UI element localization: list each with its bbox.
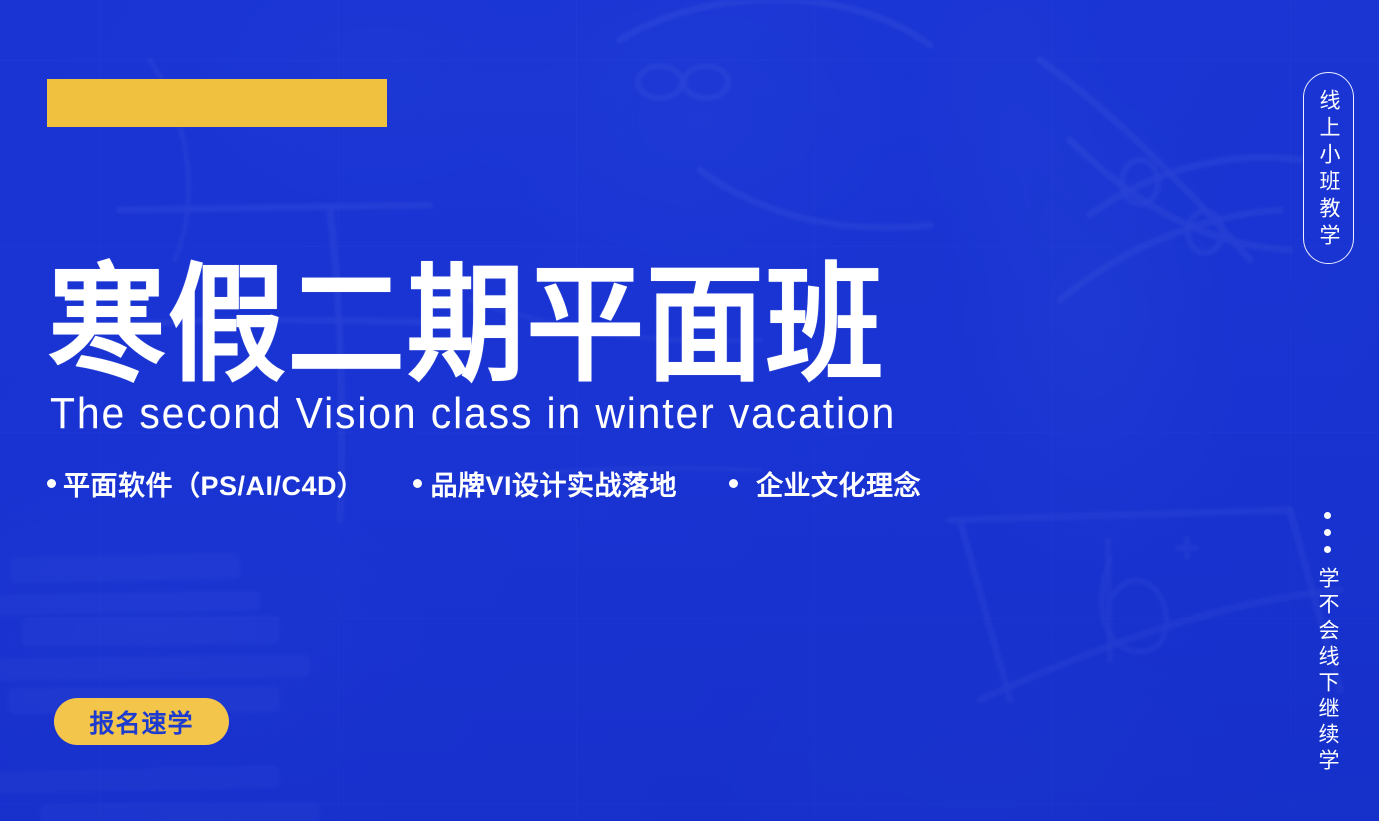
accent-bar bbox=[47, 79, 387, 127]
promo-banner: 寒假二期平面班 The second Vision class in winte… bbox=[0, 0, 1379, 821]
feature-item-brand-vi: 品牌VI设计实战落地 bbox=[413, 464, 678, 503]
bullet-dot-icon bbox=[47, 479, 56, 488]
feature-list: 平面软件（PS/AI/C4D） 品牌VI设计实战落地 企业文化理念 bbox=[47, 464, 921, 503]
guarantee-slogan-label: 学不会线下继续学 bbox=[1317, 567, 1338, 775]
feature-label: 企业文化理念 bbox=[756, 464, 921, 503]
bullet-dot-icon bbox=[729, 479, 738, 488]
feature-label: 品牌VI设计实战落地 bbox=[431, 464, 678, 503]
bullet-dot-icon bbox=[413, 479, 422, 488]
online-class-badge-label: 线上小班教学 bbox=[1318, 86, 1339, 251]
feature-item-culture: 企业文化理念 bbox=[729, 464, 921, 503]
feature-label: 平面软件（PS/AI/C4D） bbox=[63, 464, 365, 503]
guarantee-slogan: 学不会线下继续学 bbox=[1303, 512, 1352, 775]
feature-item-software: 平面软件（PS/AI/C4D） bbox=[47, 464, 365, 503]
enroll-button[interactable]: 报名速学 bbox=[54, 698, 229, 745]
online-class-badge: 线上小班教学 bbox=[1303, 72, 1354, 264]
page-subtitle: The second Vision class in winter vacati… bbox=[50, 392, 896, 436]
page-title: 寒假二期平面班 bbox=[48, 262, 885, 390]
banner-content: 寒假二期平面班 The second Vision class in winte… bbox=[0, 0, 1379, 821]
three-dots-icon bbox=[1324, 512, 1331, 553]
